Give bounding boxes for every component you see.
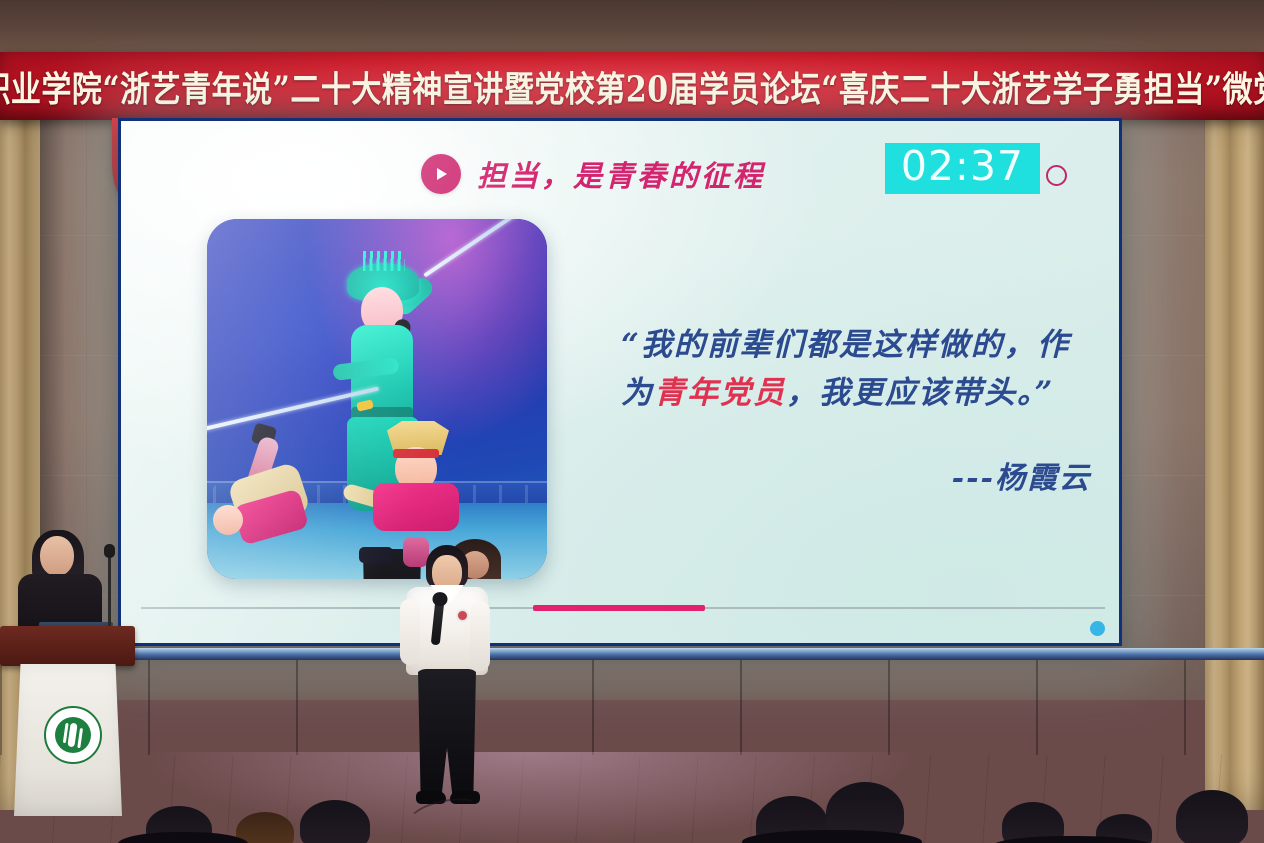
countdown-timer-value: 02:37 xyxy=(901,145,1024,188)
moderator-head xyxy=(40,536,74,576)
opera-performer-fallen-left xyxy=(209,431,329,551)
event-banner-text: 艺术职业学院“浙艺青年说”二十大精神宣讲暨党校第20届学员论坛“喜庆二十大浙艺学… xyxy=(0,60,1264,112)
audience-head-3 xyxy=(300,800,370,843)
presenter-trousers xyxy=(414,669,480,795)
quote-line-2-suffix: ，我更应该带头。” xyxy=(786,375,1054,411)
slide-divider-accent xyxy=(533,605,705,611)
kneeling-headband xyxy=(393,449,439,458)
stage-edge-light xyxy=(0,648,1264,660)
stage-front-panel xyxy=(0,660,1264,755)
emblem-dancer-mark xyxy=(55,717,91,753)
fallen-head xyxy=(213,505,243,535)
upper-wall-strip xyxy=(0,0,1264,52)
slide-title-row: 担当，是青春的征程 xyxy=(421,153,765,195)
presentation-slide: 担当，是青春的征程 02:37 xyxy=(121,121,1119,643)
kneeling-boot xyxy=(359,547,393,563)
presenter-party-badge xyxy=(458,611,467,620)
podium-top-surface xyxy=(0,626,135,666)
auditorium-scene: 艺术职业学院“浙艺青年说”二十大精神宣讲暨党校第20届学员论坛“喜庆二十大浙艺学… xyxy=(0,0,1264,843)
kneeling-torso xyxy=(373,483,459,531)
quote-line-1: “我的前辈们都是这样做的，作 xyxy=(621,327,1070,363)
speaking-podium xyxy=(0,626,135,816)
presenter-left-arm xyxy=(400,599,420,665)
event-banner: 艺术职业学院“浙艺青年说”二十大精神宣讲暨党校第20届学员论坛“喜庆二十大浙艺学… xyxy=(0,52,1264,120)
quote-attribution: ---杨霞云 xyxy=(621,453,1091,497)
slide-quote: “我的前辈们都是这样做的，作 为青年党员，我更应该带头。” xyxy=(621,321,1091,417)
slide-title: 担当，是青春的征程 xyxy=(477,153,765,195)
quote-line-2-prefix: 为 xyxy=(621,375,654,411)
timer-dot-decoration xyxy=(1090,621,1105,636)
countdown-timer: 02:37 xyxy=(885,143,1040,194)
microphone-stand xyxy=(108,552,111,634)
presenter-person xyxy=(398,545,494,810)
quote-highlight: 青年党员 xyxy=(654,375,786,411)
audience-head-8 xyxy=(1176,790,1248,843)
zhejiang-vocational-academy-of-art-emblem xyxy=(44,706,102,764)
timer-ring-decoration xyxy=(1046,165,1067,186)
projection-screen: 担当，是青春的征程 02:37 xyxy=(118,118,1122,646)
opera-performance-photo xyxy=(207,219,547,579)
play-triangle-icon xyxy=(421,154,461,194)
presenter-right-arm xyxy=(470,601,490,671)
opera-performer-kneeling-right xyxy=(343,425,493,555)
